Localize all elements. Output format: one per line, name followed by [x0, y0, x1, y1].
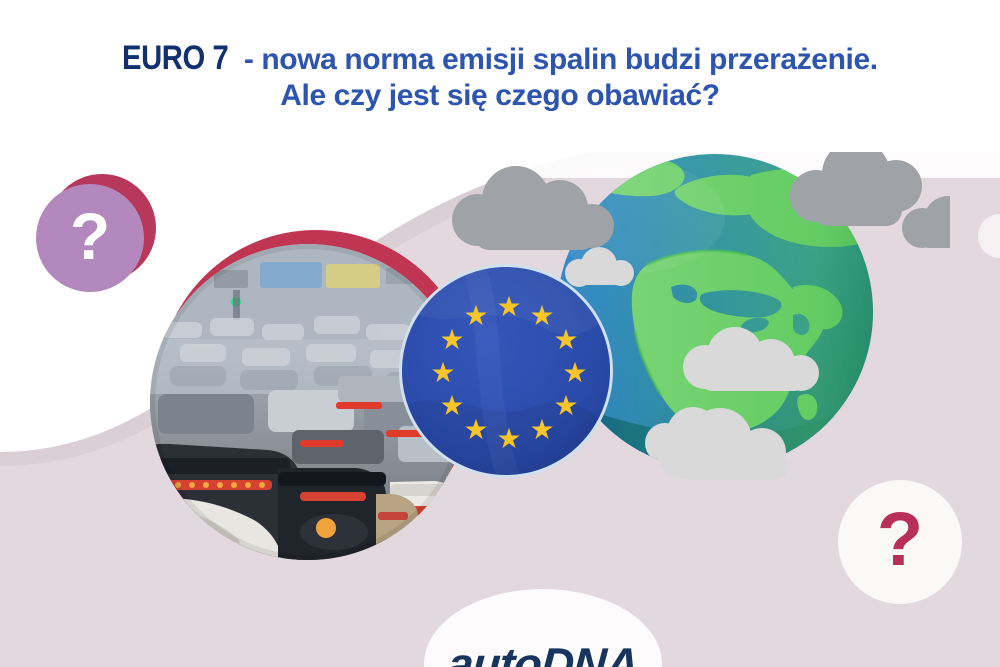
autodna-logo-text: autoDNA	[446, 637, 640, 667]
question-mark-icon: ?	[877, 502, 923, 578]
earth-globe	[555, 152, 875, 477]
title-line-2-text: Ale czy jest się czego obawiać?	[280, 79, 719, 112]
page-title-line-1: EURO 7 - nowa norma emisji spalin budzi …	[122, 38, 877, 78]
page-title-line-2: Ale czy jest się czego obawiać?	[280, 78, 719, 113]
euro7-promo-banner: EURO 7 - nowa norma emisji spalin budzi …	[0, 0, 1000, 667]
banner-header: EURO 7 - nowa norma emisji spalin budzi …	[0, 0, 1000, 152]
eu-flag-circle	[399, 264, 613, 478]
question-badge-right: ?	[838, 480, 962, 604]
question-mark-icon: ?	[70, 203, 110, 269]
title-line-1-rest: - nowa norma emisji spalin budzi przeraż…	[236, 43, 878, 76]
banner-artwork-stage: ?	[0, 152, 1000, 667]
title-euro7-emphasis: EURO 7	[122, 38, 228, 78]
question-badge-left: ?	[36, 184, 144, 292]
